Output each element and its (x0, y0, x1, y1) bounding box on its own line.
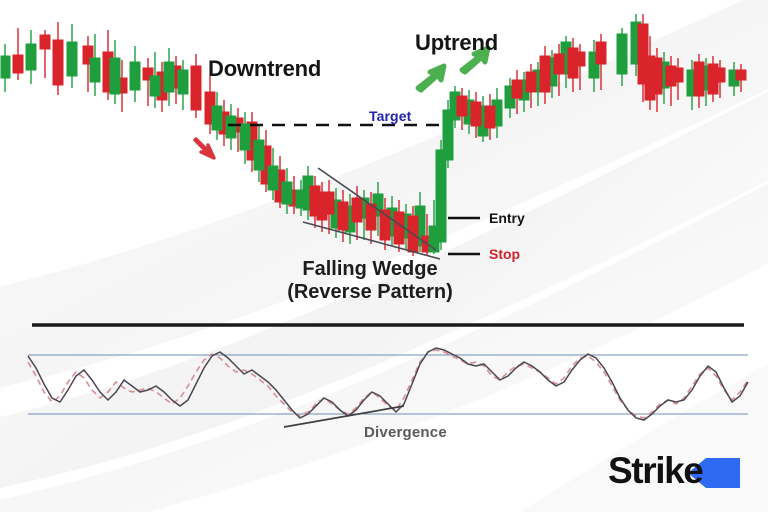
chart-canvas: Downtrend Uptrend Target Entry Stop Fall… (0, 0, 768, 512)
candlestick-series (1, 14, 746, 256)
target-label: Target (369, 108, 411, 124)
entry-legend-label: Entry (489, 210, 525, 226)
arrow-up-green-icon-1 (418, 66, 444, 90)
strike-logo-text: Strike (608, 448, 702, 494)
uptrend-label: Uptrend (415, 30, 498, 56)
downtrend-label: Downtrend (208, 56, 321, 82)
falling-wedge-label-line1: Falling Wedge (270, 258, 470, 281)
falling-wedge-label-line2: (Reverse Pattern) (270, 281, 470, 304)
strike-logo: Strike (608, 448, 748, 496)
stop-legend-label: Stop (489, 246, 520, 262)
indicator-dashed-series (28, 350, 748, 418)
falling-wedge-label: Falling Wedge (Reverse Pattern) (270, 258, 470, 304)
divergence-label: Divergence (364, 424, 447, 441)
indicator-panel (28, 348, 748, 427)
arrow-down-red-icon (195, 139, 214, 158)
